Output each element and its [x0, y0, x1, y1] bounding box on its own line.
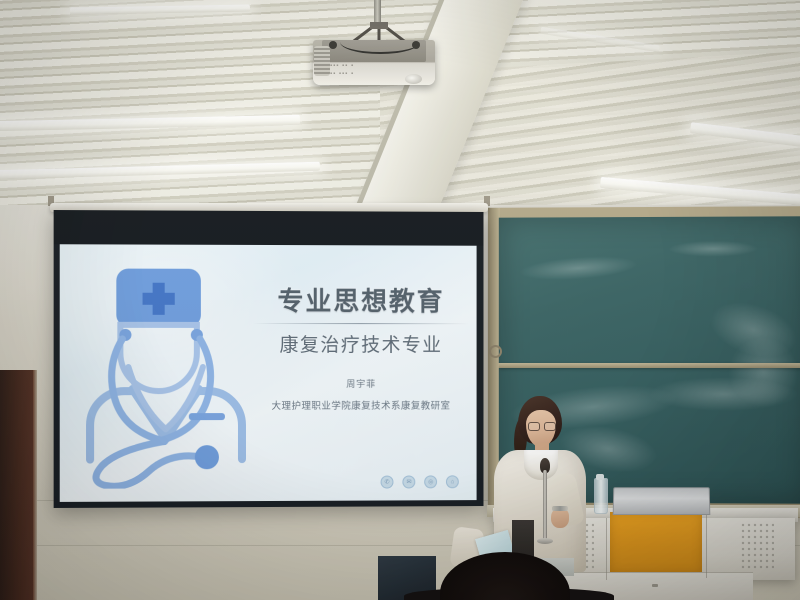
lectern-seam	[706, 514, 707, 578]
presentation-slide: 专业思想教育 康复治疗技术专业 周宇菲 大理护理职业学院康复技术系康复教研室 ✆…	[60, 244, 477, 502]
wristwatch	[552, 506, 568, 511]
microphone-base	[537, 538, 553, 544]
social-icon-4: ⌂	[446, 475, 459, 488]
slide-footer-icons: ✆ ✉ ◎ ⌂	[381, 475, 459, 488]
slide-subtitle: 康复治疗技术专业	[249, 330, 473, 357]
laptop-monitor[interactable]	[613, 487, 711, 515]
projector-cable	[340, 30, 420, 54]
presenter-hand	[551, 508, 569, 528]
projector-mount-knob	[412, 41, 420, 49]
slide-organization: 大理护理职业学院康复技术系康复教研室	[249, 398, 473, 412]
projector-vent	[314, 46, 330, 76]
projector-lens	[405, 74, 422, 84]
chalk-smudge	[668, 241, 758, 257]
social-icon-1: ✆	[381, 476, 394, 489]
chalk-smudge	[518, 253, 639, 284]
nurse-with-stethoscope-icon	[78, 262, 254, 488]
projection-screen: 专业思想教育 康复治疗技术专业 周宇菲 大理护理职业学院康复技术系康复教研室 ✆…	[54, 210, 484, 508]
chalk-smudge	[648, 377, 799, 411]
slide-author: 周宇菲	[249, 377, 473, 390]
lectern-speaker-grill	[740, 522, 774, 570]
side-door[interactable]	[0, 370, 35, 600]
screen-black-border	[54, 210, 484, 246]
projector-label: ▪▪▪ ▪▪ ▪▪▪ ▪▪▪ ▪	[330, 62, 405, 78]
water-bottle[interactable]	[594, 478, 608, 514]
lectern-seam	[606, 518, 607, 580]
chalk-smudge	[728, 337, 798, 407]
slide-title: 专业思想教育	[249, 289, 473, 317]
microphone-stem[interactable]	[543, 470, 547, 542]
eyeglasses-icon	[528, 422, 554, 429]
social-icon-3: ◎	[424, 475, 437, 488]
water-bottle-cap	[596, 474, 604, 480]
chalk-smudge	[703, 292, 800, 368]
classroom-photo-scene: ▪▪▪ ▪▪ ▪▪▪ ▪▪▪ ▪	[0, 0, 800, 600]
blackboard-divider-rail	[499, 363, 800, 368]
lectern-front-panel	[610, 512, 702, 574]
projector-mount-knob	[329, 41, 337, 49]
slide-title-rule	[253, 323, 469, 324]
blackboard-hook	[489, 345, 502, 358]
side-door-edge	[33, 370, 37, 600]
slide-text-block: 专业思想教育 康复治疗技术专业 周宇菲 大理护理职业学院康复技术系康复教研室	[249, 289, 473, 412]
lectern-base-knob[interactable]	[652, 584, 658, 587]
social-icon-2: ✉	[402, 475, 415, 488]
